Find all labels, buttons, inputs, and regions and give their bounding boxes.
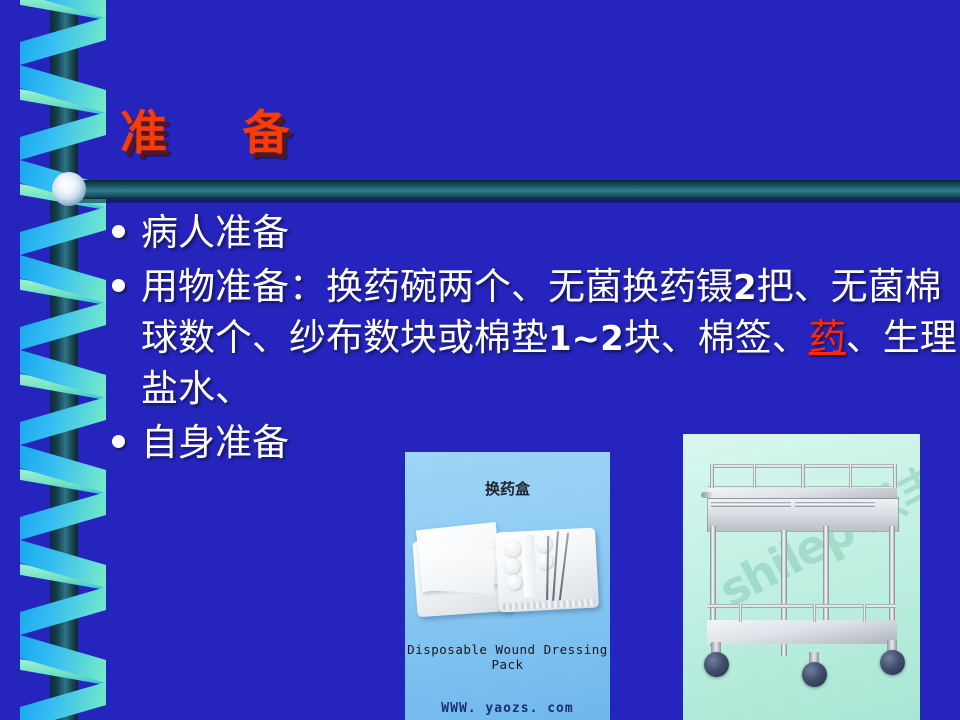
text-segment: 自身准备	[141, 421, 289, 464]
quantity-value: 2	[733, 268, 757, 308]
quantity-value: 1~2	[548, 319, 624, 359]
bullet-dot-icon	[112, 435, 125, 448]
trolley-rail-post	[893, 464, 897, 490]
cotton-ball-icon	[535, 536, 552, 553]
caster-wheel-icon	[704, 652, 729, 677]
glow-sphere-icon	[52, 172, 86, 206]
bullet-text: 自身准备	[141, 418, 289, 468]
trolley-bottom-rail	[707, 604, 897, 608]
tray-right-icon	[495, 527, 599, 612]
dressing-pack-caption: Disposable Wound Dressing Pack	[405, 642, 610, 672]
medicine-hyperlink[interactable]: 药	[809, 316, 846, 359]
image-medical-trolley: shilep 乐丰	[683, 434, 920, 720]
trolley-bottom-rail-post	[813, 604, 816, 622]
bullet-text: 病人准备	[141, 208, 289, 258]
trolley-rail-post	[710, 464, 714, 490]
dressing-pack-heading: 换药盒	[405, 478, 610, 499]
caster-wheel-icon	[880, 650, 905, 675]
cotton-ball-icon	[537, 554, 553, 570]
trolley-bottom-rail-post	[863, 604, 866, 622]
trolley-drawer-handle[interactable]	[795, 502, 875, 507]
trolley-rail-post	[753, 464, 756, 489]
bullet-dot-icon	[112, 225, 125, 238]
tray-ribbed-edge	[503, 599, 595, 611]
trolley-push-handle	[701, 492, 713, 498]
trolley-rail-post	[849, 464, 852, 489]
cotton-ball-icon	[506, 574, 522, 590]
gauze-pad-fold-icon	[424, 546, 496, 594]
text-segment: 病人准备	[141, 211, 289, 254]
trolley-bottom-shelf	[707, 620, 897, 644]
helix-ribbon-decoration	[0, 0, 120, 720]
trolley-drawer-handle[interactable]	[711, 502, 791, 507]
text-segment: 用物准备：换药碗两个、无菌换药镊	[141, 265, 733, 308]
caster-wheel-icon	[802, 662, 827, 687]
bullet-text: 用物准备：换药碗两个、无菌换药镊2把、无菌棉球数个、纱布数块或棉垫1~2块、棉签…	[141, 262, 960, 414]
title-divider-shadow	[66, 199, 960, 203]
bullet-dot-icon	[112, 279, 125, 292]
trolley-bottom-rail-post	[739, 604, 742, 622]
bullet-item-patient-prep: 病人准备	[112, 208, 960, 258]
bullet-item-supplies-prep: 用物准备：换药碗两个、无菌换药镊2把、无菌棉球数个、纱布数块或棉垫1~2块、棉签…	[112, 262, 960, 414]
title-divider-bar	[66, 180, 960, 199]
cotton-ball-icon	[503, 539, 521, 557]
image-dressing-pack: 换药盒 Disposable Wound Dressing Pack WWW. …	[405, 452, 610, 720]
presentation-slide: 准 备 病人准备用物准备：换药碗两个、无菌换药镊2把、无菌棉球数个、纱布数块或棉…	[0, 0, 960, 720]
forceps-icon	[552, 531, 559, 601]
bullet-list: 病人准备用物准备：换药碗两个、无菌换药镊2把、无菌棉球数个、纱布数块或棉垫1~2…	[112, 208, 960, 472]
forceps-icon	[559, 533, 569, 601]
text-segment: 块、棉签、	[624, 316, 809, 359]
dressing-pack-watermark: WWW. yaozs. com	[405, 701, 610, 716]
page-title: 准 备	[120, 94, 291, 163]
cotton-ball-icon	[503, 557, 520, 574]
trolley-rail-post	[801, 464, 805, 488]
